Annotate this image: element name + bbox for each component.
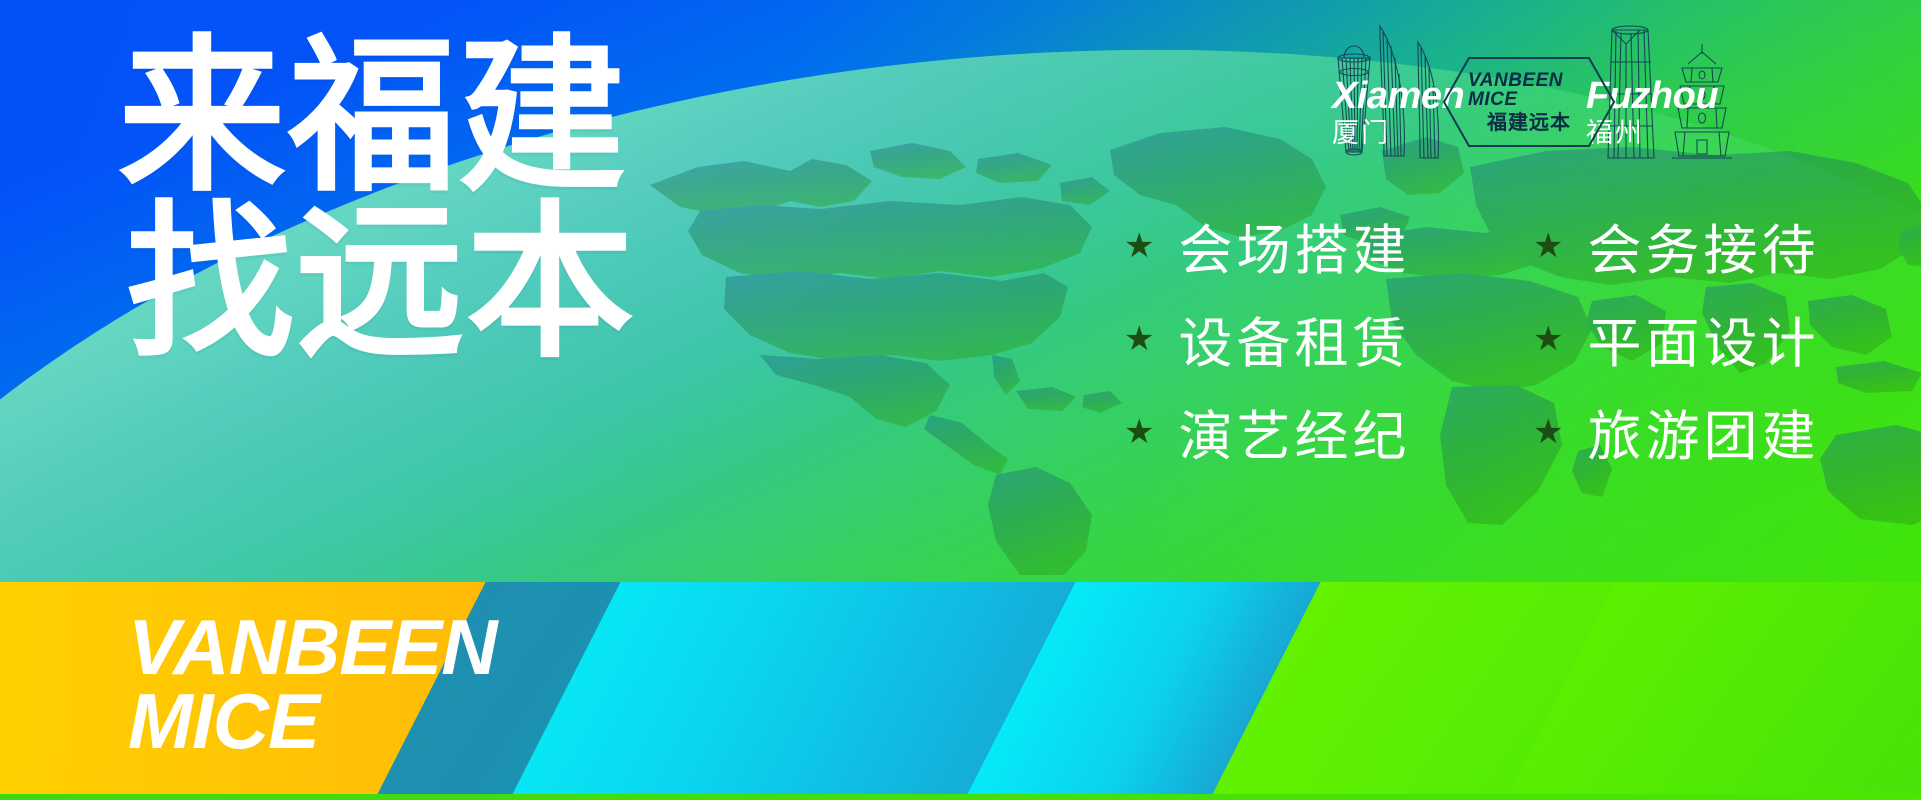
headline: 来福建 找远本 [118,34,758,367]
badge-line-2: MICE [1468,90,1518,109]
bottom-color-band: VANBEEN MICE [0,582,1921,800]
service-item: ★ 会务接待 [1533,206,1921,285]
service-item: ★ 旅游团建 [1533,392,1921,471]
star-icon: ★ [1124,415,1158,449]
vanbeen-wordmark: VANBEEN MICE [128,610,497,758]
badge-line-3: 福建远本 [1487,113,1571,133]
headline-line-1: 来福建 [118,23,628,211]
service-item: ★ 会场搭建 [1124,206,1515,285]
star-icon: ★ [1533,322,1567,356]
wordmark-line-2: MICE [128,684,497,758]
star-icon: ★ [1124,322,1158,356]
city-landmark-strip: Xiamen 厦门 Fuzhou 福州 VANBEEN MICE 福建远本 [1300,8,1920,168]
service-label: 会务接待 [1587,206,1819,285]
service-item: ★ 设备租赁 [1124,299,1515,378]
star-icon: ★ [1533,229,1567,263]
service-item: ★ 演艺经纪 [1124,392,1515,471]
service-label: 设备租赁 [1178,299,1410,378]
service-item: ★ 平面设计 [1533,299,1921,378]
badge-line-1: VANBEEN [1468,71,1563,90]
service-label: 平面设计 [1587,299,1819,378]
service-label: 旅游团建 [1587,392,1819,471]
service-list: ★ 会场搭建 ★ 会务接待 ★ 设备租赁 ★ 平面设计 ★ 演艺经纪 ★ 旅游团… [1124,206,1921,471]
promotional-banner: 来福建 找远本 ★ 会场搭建 ★ 会务接待 ★ 设备租赁 ★ 平面设计 ★ 演艺… [0,0,1921,800]
star-icon: ★ [1124,229,1158,263]
service-label: 演艺经纪 [1178,392,1410,471]
headline-line-2: 找远本 [118,200,758,366]
star-icon: ★ [1533,415,1567,449]
vanbeen-hexagon-badge: VANBEEN MICE 福建远本 [1442,56,1616,148]
service-label: 会场搭建 [1178,206,1410,285]
bottom-seam [0,794,1921,800]
